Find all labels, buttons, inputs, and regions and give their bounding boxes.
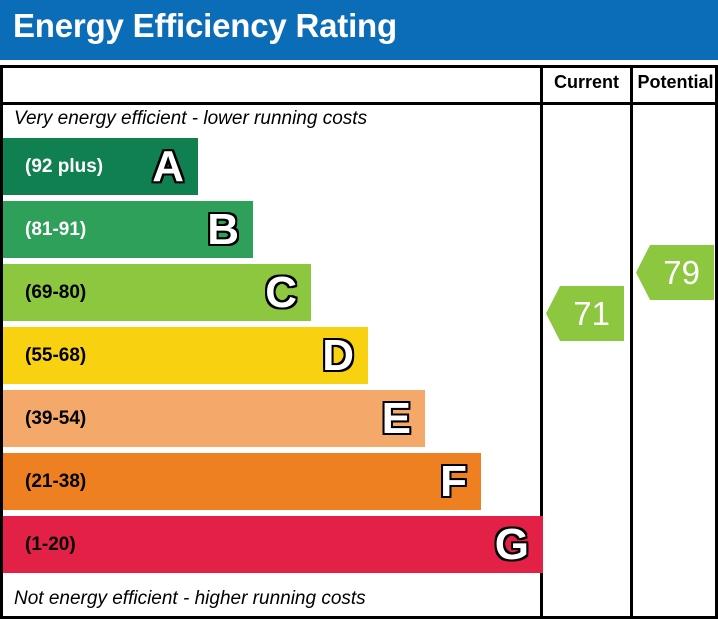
band-range-e: (39-54)	[25, 408, 86, 430]
band-range-c: (69-80)	[25, 282, 86, 304]
chart-title-bar: Energy Efficiency Rating	[0, 0, 718, 60]
caption-top: Very energy efficient - lower running co…	[14, 108, 367, 130]
rating-band-g: (1-20) G	[3, 516, 543, 573]
energy-efficiency-rating-chart: Energy Efficiency Rating Current Potenti…	[0, 0, 718, 619]
band-range-g: (1-20)	[25, 534, 76, 556]
caption-bottom: Not energy efficient - higher running co…	[14, 588, 366, 610]
column-header-current: Current	[543, 72, 630, 93]
column-divider-potential	[630, 65, 633, 619]
current-rating-value: 71	[573, 297, 624, 330]
band-letter-e: E	[382, 397, 411, 441]
band-range-d: (55-68)	[25, 345, 86, 367]
rating-band-d: (55-68) D	[3, 327, 368, 384]
page-title: Energy Efficiency Rating	[13, 7, 397, 45]
band-letter-g: G	[495, 523, 529, 567]
column-header-potential: Potential	[633, 72, 718, 93]
current-rating-marker: 71	[546, 286, 624, 341]
band-range-b: (81-91)	[25, 219, 86, 241]
header-row-divider	[3, 102, 715, 105]
rating-band-b: (81-91) B	[3, 201, 253, 258]
rating-band-e: (39-54) E	[3, 390, 425, 447]
potential-rating-marker: 79	[636, 245, 714, 300]
band-letter-b: B	[207, 208, 239, 252]
band-letter-a: A	[152, 145, 184, 189]
rating-band-a: (92 plus) A	[3, 138, 198, 195]
band-range-f: (21-38)	[25, 471, 86, 493]
potential-rating-value: 79	[663, 256, 714, 289]
rating-band-f: (21-38) F	[3, 453, 481, 510]
band-letter-f: F	[440, 460, 467, 504]
band-letter-d: D	[322, 334, 354, 378]
band-letter-c: C	[265, 271, 297, 315]
rating-band-c: (69-80) C	[3, 264, 311, 321]
band-range-a: (92 plus)	[25, 156, 103, 178]
